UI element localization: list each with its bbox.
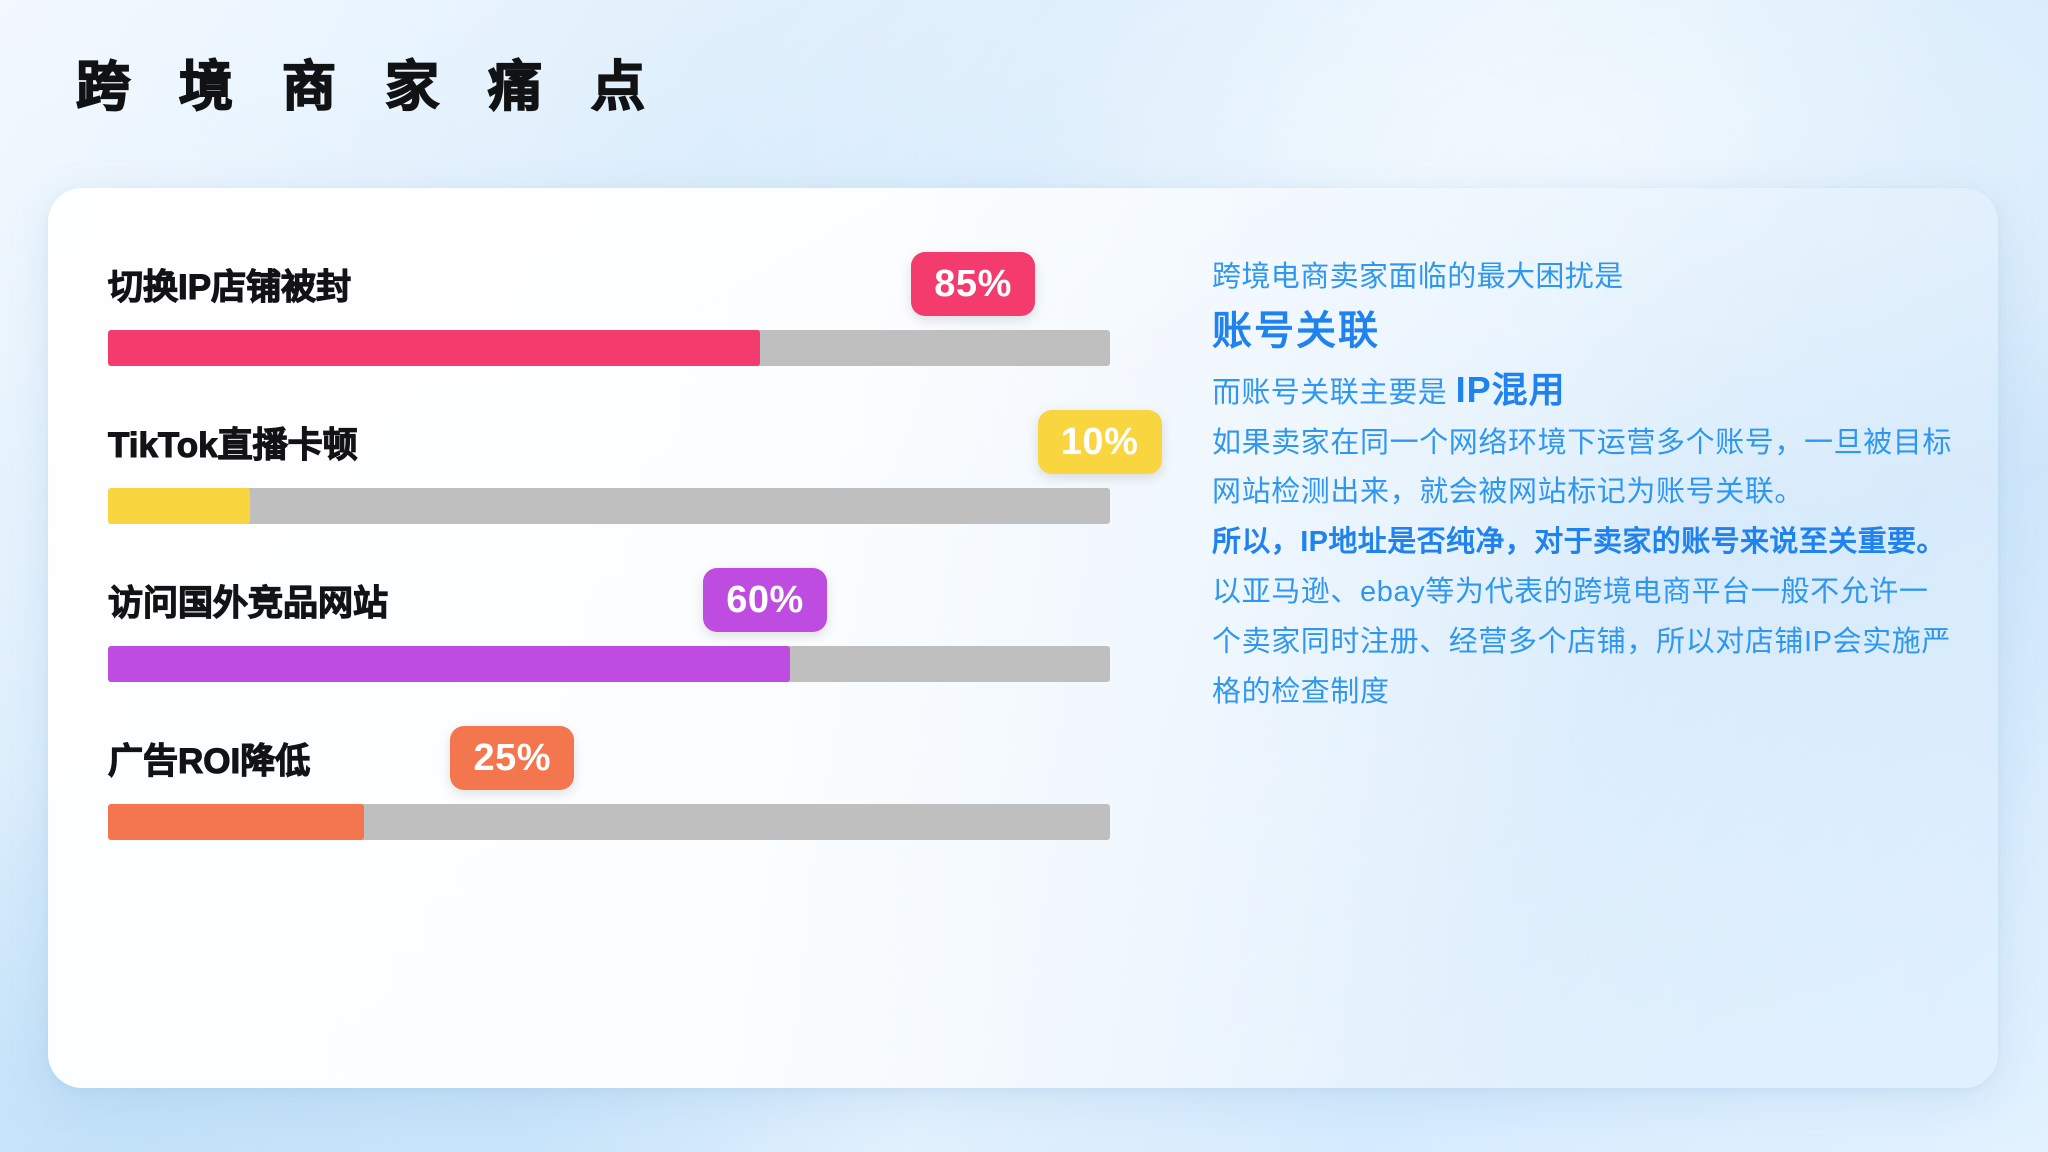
bar-fill — [108, 330, 760, 366]
bar-row: 切换IP店铺被封 85% — [108, 238, 1173, 396]
bar-row: TikTok直播卡顿 10% — [108, 396, 1173, 554]
bar-track — [108, 804, 1110, 840]
bar-value-badge: 25% — [450, 726, 574, 790]
bar-fill — [108, 488, 250, 524]
bar-label: 广告ROI降低 — [108, 733, 310, 784]
bar-row: 访问国外竞品网站 60% — [108, 554, 1173, 712]
copy-lead-secondary-strong: IP混用 — [1456, 369, 1566, 410]
explanation-panel: 跨境电商卖家面临的最大困扰是 账号关联 而账号关联主要是 IP混用 如果卖家在同… — [1212, 254, 1952, 718]
bar-fill — [108, 646, 790, 682]
copy-lead-secondary: 而账号关联主要是 IP混用 — [1212, 361, 1952, 419]
bar-track — [108, 488, 1110, 524]
bar-row: 广告ROI降低 25% — [108, 712, 1173, 840]
bar-track — [108, 330, 1110, 366]
bar-header: TikTok直播卡顿 10% — [108, 396, 1173, 488]
bar-label: 切换IP店铺被封 — [108, 259, 351, 310]
bar-value-badge: 85% — [911, 252, 1035, 316]
bar-fill — [108, 804, 364, 840]
bar-value-badge: 10% — [1038, 410, 1162, 474]
copy-lead: 跨境电商卖家面临的最大困扰是 — [1212, 254, 1952, 301]
bar-header: 切换IP店铺被封 85% — [108, 238, 1173, 330]
bar-label: 访问国外竞品网站 — [108, 575, 388, 626]
bar-track — [108, 646, 1110, 682]
pain-point-bar-chart: 切换IP店铺被封 85% TikTok直播卡顿 10% 访问国外竞品网站 60% — [108, 238, 1173, 840]
copy-paragraph-2: 所以，IP地址是否纯净，对于卖家的账号来说至关重要。 — [1212, 518, 1952, 568]
content-card: 切换IP店铺被封 85% TikTok直播卡顿 10% 访问国外竞品网站 60% — [48, 188, 1998, 1088]
bar-header: 广告ROI降低 25% — [108, 712, 1173, 804]
copy-lead-secondary-prefix: 而账号关联主要是 — [1212, 377, 1456, 409]
bar-value-badge: 60% — [703, 568, 827, 632]
bar-header: 访问国外竞品网站 60% — [108, 554, 1173, 646]
bar-label: TikTok直播卡顿 — [108, 417, 358, 468]
copy-paragraph-3: 以亚马逊、ebay等为代表的跨境电商平台一般不允许一个卖家同时注册、经营多个店铺… — [1212, 568, 1952, 718]
copy-paragraph-1: 如果卖家在同一个网络环境下运营多个账号，一旦被目标网站检测出来，就会被网站标记为… — [1212, 419, 1952, 519]
page-title: 跨 境 商 家 痛 点 — [76, 56, 662, 120]
copy-headline: 账号关联 — [1212, 301, 1952, 361]
